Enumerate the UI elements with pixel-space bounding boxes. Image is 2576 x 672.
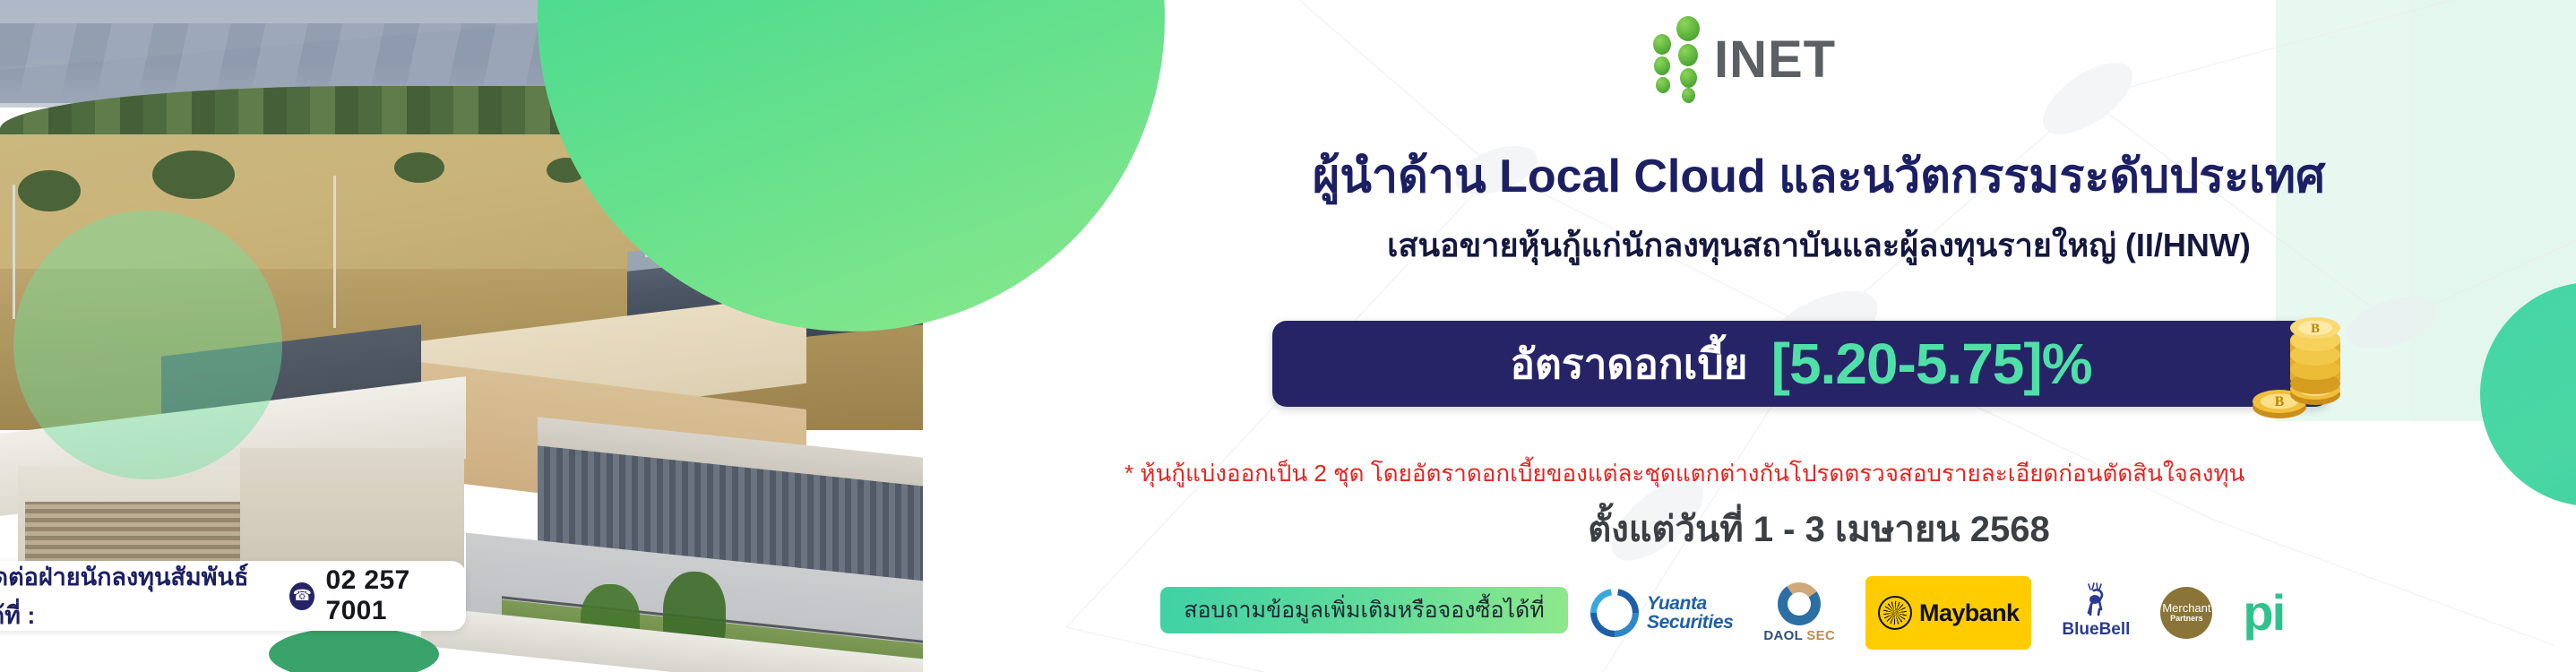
contact-phone-number[interactable]: 02 257 7001 — [325, 565, 466, 626]
partner-logo-daol-sec[interactable]: DAOL SEC — [1763, 582, 1835, 643]
page-title: ผู้นำด้าน Local Cloud และนวัตกรรมระดับปร… — [1165, 151, 2473, 204]
partner-logo-bluebell[interactable]: BlueBell — [2062, 582, 2130, 643]
yuanta-name-line2: Securities — [1647, 613, 1733, 632]
contact-label: ติดต่อฝ่ายนักลงทุนสัมพันธ์ได้ที่ : — [0, 557, 279, 634]
maybank-tiger-icon — [1878, 596, 1912, 630]
interest-rate-badge: อัตราดอกเบี้ย [5.20-5.75]% B B B — [1272, 321, 2330, 407]
daol-name-line2: SEC — [1806, 628, 1835, 643]
interest-rate-label: อัตราดอกเบี้ย — [1510, 343, 1747, 384]
merchant-name-line1: Merchant — [2162, 602, 2210, 615]
green-circle-left-decoration — [13, 211, 282, 479]
partner-logo-maybank[interactable]: Maybank — [1865, 576, 2031, 650]
offering-dates: ตั้งแต่วันที่ 1 - 3 เมษายน 2568 — [1165, 500, 2473, 557]
disclaimer-note: * หุ้นกู้แบ่งออกเป็น 2 ชุด โดยอัตราดอกเบ… — [1124, 459, 2558, 488]
partner-logo-yuanta-securities[interactable]: Yuanta Securities — [1590, 582, 1733, 643]
inet-logo[interactable]: INET — [1653, 16, 1836, 82]
yuanta-name-line1: Yuanta — [1647, 594, 1733, 613]
pi-name: pi — [2243, 594, 2284, 632]
gold-coins-icon: B B B — [2238, 301, 2346, 426]
merchant-partners-mark-icon: Merchant Partners — [2160, 587, 2212, 639]
maybank-name: Maybank — [1919, 599, 2019, 627]
merchant-name-line2: Partners — [2170, 615, 2203, 623]
yuanta-mark-icon — [1590, 589, 1639, 637]
page-subtitle: เสนอขายหุ้นกู้แก่นักลงทุนสถาบันและผู้ลงท… — [1165, 226, 2473, 264]
partner-logo-pi-securities[interactable]: pi — [2243, 582, 2284, 643]
phone-icon: ☎ — [289, 582, 314, 610]
svg-text:B: B — [2275, 394, 2285, 409]
inet-logo-text: INET — [1714, 38, 1836, 82]
daol-name-line1: DAOL — [1763, 628, 1802, 643]
interest-rate-value: [5.20-5.75]% — [1771, 335, 2092, 392]
promotional-banner: INET ผู้นำด้าน Local Cloud และนวัตกรรมระ… — [0, 0, 2576, 672]
svg-text:B: B — [2311, 322, 2320, 336]
contact-cta-button[interactable]: สอบถามข้อมูลเพิ่มเติมหรือจองซื้อได้ที่ — [1160, 587, 1568, 633]
inet-dots-logo — [1653, 16, 1709, 82]
partner-logo-row: Yuanta Securities DAOL SEC Maybank BlueB… — [1590, 581, 2549, 645]
investor-relations-contact-card: ติดต่อฝ่ายนักลงทุนสัมพันธ์ได้ที่ : ☎ 02 … — [0, 561, 466, 631]
partner-logo-merchant-partners[interactable]: Merchant Partners — [2160, 582, 2212, 643]
daol-mark-icon — [1778, 582, 1821, 625]
bluebell-deer-icon — [2078, 582, 2114, 618]
bluebell-name: BlueBell — [2062, 620, 2130, 640]
